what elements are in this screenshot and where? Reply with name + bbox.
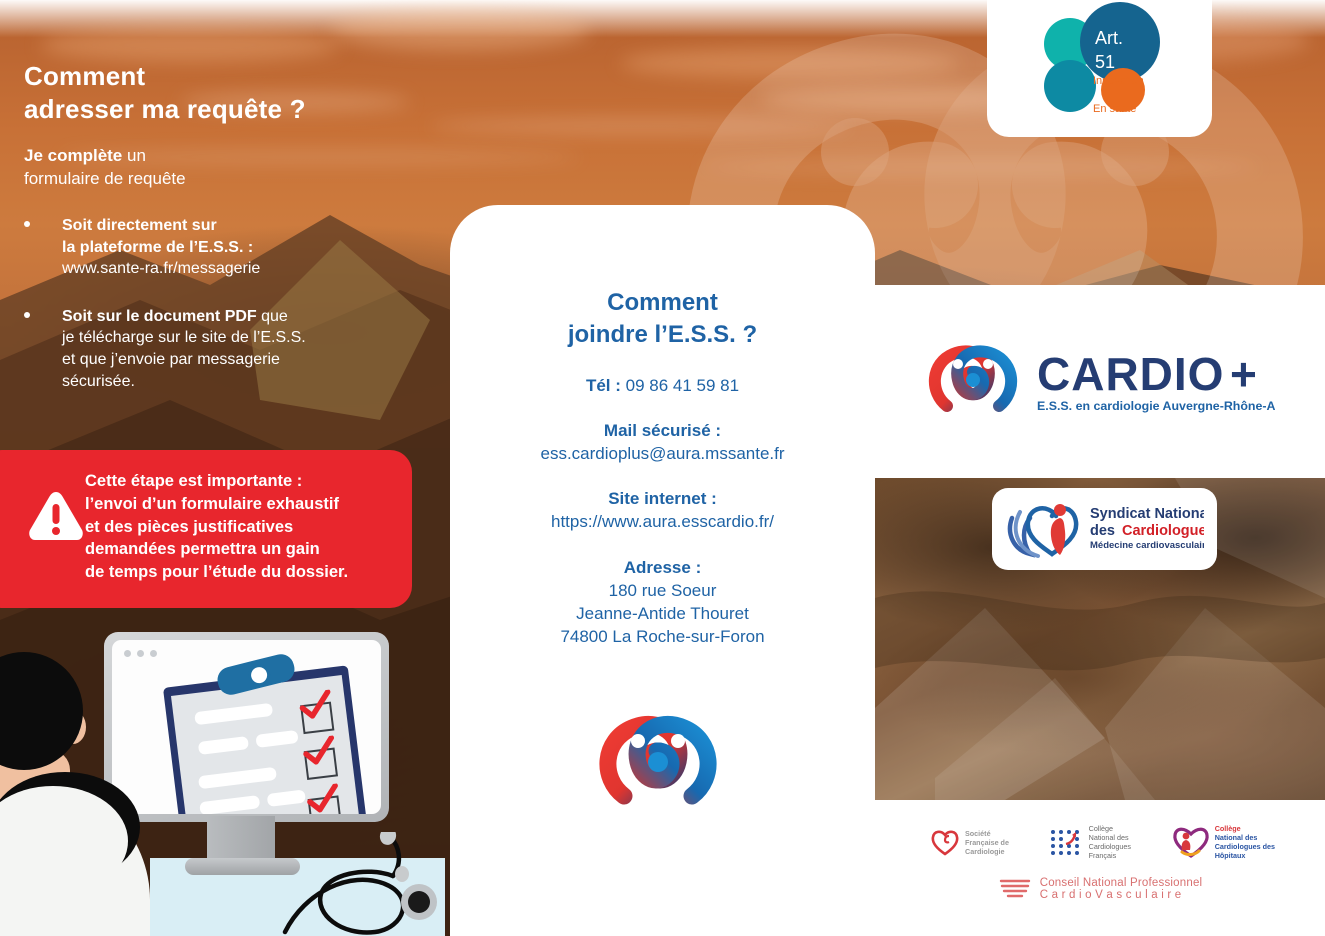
contact-address-label: Adresse : bbox=[450, 557, 875, 580]
sfc-line2: Française de bbox=[965, 838, 1009, 847]
cncf-line2: National des bbox=[1089, 833, 1131, 842]
contact-phone-label: Tél : bbox=[586, 376, 626, 395]
art51-logo-card: Art. 51 Innovation En santé bbox=[987, 0, 1212, 137]
partner-logo-cncf: Collège National des Cardiologues França… bbox=[1049, 824, 1131, 860]
syndicat-national-cardiologues-card: Syndicat National des Cardiologues Médec… bbox=[992, 488, 1217, 570]
important-notice-text: Cette étape est importante : l’envoi d’u… bbox=[85, 470, 390, 584]
cnch-line3: Cardiologues des bbox=[1215, 842, 1275, 851]
cnp-line1: Conseil National Professionnel bbox=[1040, 877, 1203, 889]
cardio-plus-sign: + bbox=[1230, 348, 1257, 400]
partner-logos: Société Française de Cardiologie Collège… bbox=[930, 812, 1275, 872]
contact-address-line3: 74800 La Roche-sur-Foron bbox=[450, 626, 875, 649]
subtitle-strong: Je complète bbox=[24, 146, 122, 165]
checkmark-icon bbox=[300, 735, 337, 767]
cnch-line2: National des bbox=[1215, 833, 1275, 842]
contact-address: Adresse : 180 rue Soeur Jeanne-Antide Th… bbox=[450, 557, 875, 649]
bullet-1-strong-2: la plateforme de l’E.S.S. : bbox=[62, 239, 253, 256]
notice-line-5: de temps pour l’étude du dossier. bbox=[85, 561, 390, 584]
contact-title-line2: joindre l’E.S.S. ? bbox=[450, 319, 875, 351]
contact-title-line1: Comment bbox=[450, 287, 875, 319]
cnp-cardiovasculaire-logo: Conseil National Professionnel C a r d i… bbox=[875, 876, 1325, 907]
window-dots-icon bbox=[124, 650, 157, 657]
page-title: Comment adresser ma requête ? bbox=[24, 60, 414, 127]
cnch-line1: Collège bbox=[1215, 824, 1275, 833]
contact-address-line1: 180 rue Soeur bbox=[450, 580, 875, 603]
syndicat-line2-a: des bbox=[1090, 523, 1115, 539]
subtitle-rest: un bbox=[122, 146, 146, 165]
checkmark-icon bbox=[297, 690, 334, 722]
bullet-2-plain-2: je télécharge sur le site de l’E.S.S. bbox=[62, 327, 424, 349]
sfc-line3: Cardiologie bbox=[965, 847, 1009, 856]
bullet-2-strong-1: Soit sur le document PDF bbox=[62, 308, 257, 325]
list-item: Soit sur le document PDF que je téléchar… bbox=[24, 306, 424, 392]
contact-mail-value[interactable]: ess.cardioplus@aura.mssante.fr bbox=[450, 443, 875, 466]
dots-arrow-icon bbox=[1049, 827, 1085, 857]
contact-mail: Mail sécurisé : ess.cardioplus@aura.mssa… bbox=[450, 420, 875, 466]
partner-logo-sfc: Société Française de Cardiologie bbox=[930, 827, 1009, 857]
list-item: Soit directement sur la plateforme de l’… bbox=[24, 215, 424, 280]
contact-phone-value[interactable]: 09 86 41 59 81 bbox=[626, 376, 739, 395]
left-column: Comment adresser ma requête ? Je complèt… bbox=[0, 0, 440, 936]
sfc-line1: Société bbox=[965, 829, 1009, 838]
bullet-list: Soit directement sur la plateforme de l’… bbox=[24, 215, 424, 414]
contact-mail-label: Mail sécurisé : bbox=[450, 420, 875, 443]
page-title-line1: Comment bbox=[24, 60, 414, 93]
contact-address-line2: Jeanne-Antide Thouret bbox=[450, 603, 875, 626]
syndicat-line1: Syndicat National bbox=[1090, 506, 1204, 522]
doctor-head bbox=[0, 652, 83, 770]
heart-person-icon bbox=[1171, 825, 1211, 859]
art51-line4: En santé bbox=[1093, 103, 1136, 115]
subtitle-line2: formulaire de requête bbox=[24, 168, 414, 191]
monitor-icon bbox=[104, 632, 389, 822]
cnch-line4: Hôpitaux bbox=[1215, 851, 1275, 860]
doctor-at-computer-illustration bbox=[0, 600, 445, 936]
notice-line-4: demandées permettra un gain bbox=[85, 538, 390, 561]
art51-logo: Art. 51 Innovation En santé bbox=[1035, 2, 1165, 122]
cnp-mark-icon bbox=[998, 876, 1032, 902]
syndicat-line3: Médecine cardiovasculaire bbox=[1090, 540, 1204, 551]
bullet-1-strong-1: Soit directement sur bbox=[62, 217, 217, 234]
bullet-dot-icon bbox=[24, 221, 30, 227]
contact-website: Site internet : https://www.aura.esscard… bbox=[450, 488, 875, 534]
contact-panel-title: Comment joindre l’E.S.S. ? bbox=[450, 287, 875, 351]
important-notice-box: Cette étape est importante : l’envoi d’u… bbox=[0, 450, 412, 608]
heart-icon bbox=[930, 827, 960, 857]
bullet-2-plain-3: et que j’envoie par messagerie bbox=[62, 349, 424, 371]
art51-line1: Art. bbox=[1095, 28, 1123, 48]
clipboard-icon bbox=[163, 665, 367, 814]
cncf-line4: Français bbox=[1089, 851, 1131, 860]
cardio-plus-symbol bbox=[594, 700, 722, 812]
cardio-wordmark: CARDIO bbox=[1037, 348, 1224, 400]
contact-website-label: Site internet : bbox=[450, 488, 875, 511]
page-title-line2: adresser ma requête ? bbox=[24, 93, 414, 126]
checkmark-icon bbox=[304, 783, 341, 814]
monitor-screen bbox=[112, 640, 381, 814]
stethoscope-icon bbox=[275, 832, 445, 936]
contact-phone: Tél : 09 86 41 59 81 bbox=[450, 375, 875, 398]
bullet-2-plain-4: sécurisée. bbox=[62, 371, 424, 393]
notice-line-3: et des pièces justificatives bbox=[85, 516, 390, 539]
cncf-line3: Cardiologues bbox=[1089, 842, 1131, 851]
syndicat-logo: Syndicat National des Cardiologues Médec… bbox=[1004, 498, 1204, 560]
partner-logo-cnch: Collège National des Cardiologues des Hô… bbox=[1171, 824, 1275, 860]
syndicat-line2-b: Cardiologues bbox=[1122, 523, 1204, 539]
art51-line2: 51 bbox=[1095, 52, 1115, 72]
notice-line-1: Cette étape est importante : bbox=[85, 470, 390, 493]
contact-panel: Comment joindre l’E.S.S. ? Tél : 09 86 4… bbox=[450, 205, 875, 936]
cardio-tagline: E.S.S. en cardiologie Auvergne-Rhône-Alp… bbox=[1037, 399, 1275, 413]
bullet-dot-icon bbox=[24, 312, 30, 318]
bullet-1-url[interactable]: www.sante-ra.fr/messagerie bbox=[62, 258, 424, 280]
brochure-page: Comment adresser ma requête ? Je complèt… bbox=[0, 0, 1325, 936]
warning-triangle-icon bbox=[28, 490, 84, 542]
contact-website-value[interactable]: https://www.aura.esscardio.fr/ bbox=[450, 511, 875, 534]
cncf-line1: Collège bbox=[1089, 824, 1131, 833]
subtitle: Je complète un formulaire de requête bbox=[24, 145, 414, 190]
notice-line-2: l’envoi d’un formulaire exhaustif bbox=[85, 493, 390, 516]
art51-line3: Innovation bbox=[1093, 75, 1144, 87]
cnp-line2: C a r d i o V a s c u l a i r e bbox=[1040, 889, 1203, 901]
cardio-plus-logo: CARDIO + E.S.S. en cardiologie Auvergne-… bbox=[925, 338, 1275, 422]
bullet-2-plain-1: que bbox=[257, 308, 288, 325]
